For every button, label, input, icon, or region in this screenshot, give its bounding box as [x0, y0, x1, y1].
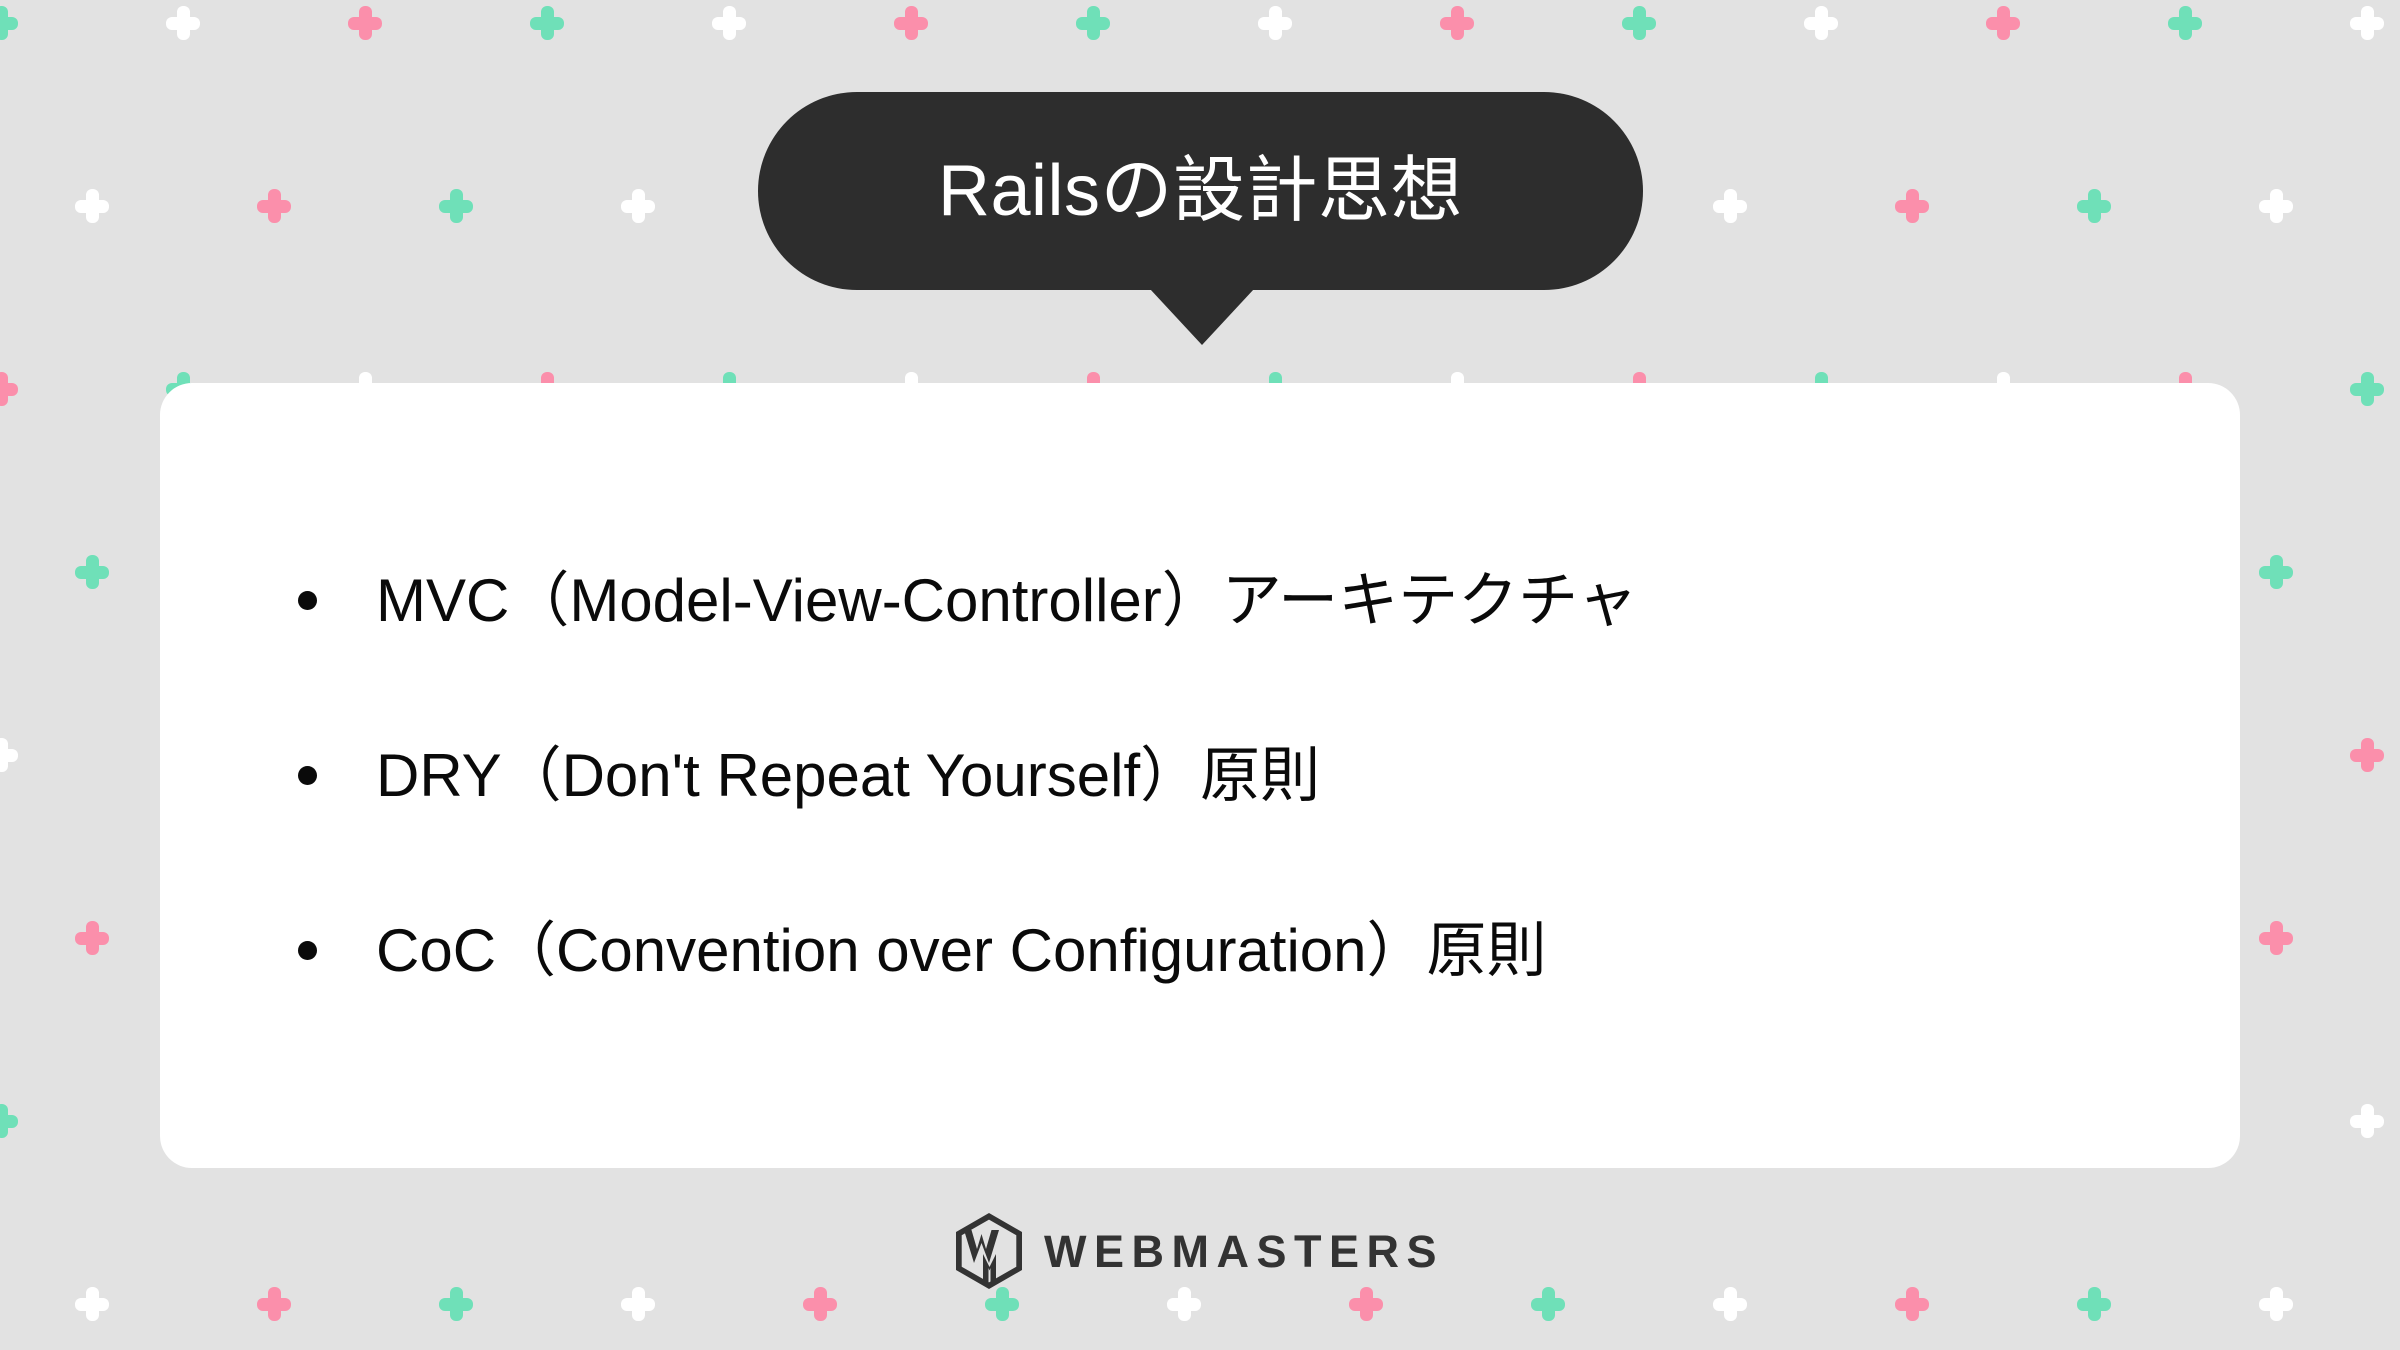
- plus-cross-icon: [1440, 6, 1474, 40]
- bullet-dot-icon: [298, 766, 317, 785]
- plus-cross-icon: [2259, 189, 2293, 223]
- plus-cross-icon: [257, 1287, 291, 1321]
- plus-cross-icon: [166, 6, 200, 40]
- plus-cross-icon: [2077, 1287, 2111, 1321]
- plus-cross-icon: [1076, 6, 1110, 40]
- plus-cross-icon: [75, 1287, 109, 1321]
- plus-cross-icon: [75, 555, 109, 589]
- bubble-tail-icon: [1150, 289, 1254, 345]
- plus-cross-icon: [621, 1287, 655, 1321]
- plus-cross-icon: [0, 1104, 18, 1138]
- list-item: MVC（Model-View-Controller）アーキテクチャ: [270, 513, 2130, 688]
- plus-cross-icon: [0, 372, 18, 406]
- bullet-list: MVC（Model-View-Controller）アーキテクチャ DRY（Do…: [270, 513, 2130, 1038]
- plus-cross-icon: [2350, 372, 2384, 406]
- plus-cross-icon: [894, 6, 928, 40]
- content-card: MVC（Model-View-Controller）アーキテクチャ DRY（Do…: [160, 383, 2240, 1168]
- list-item-label: DRY（Don't Repeat Yourself）原則: [376, 743, 1320, 809]
- brand-wordmark: WEBMASTERS: [1044, 1229, 1444, 1274]
- plus-cross-icon: [1531, 1287, 1565, 1321]
- list-item-label: MVC（Model-View-Controller）アーキテクチャ: [376, 568, 1638, 634]
- plus-cross-icon: [257, 189, 291, 223]
- title-bubble-body: Railsの設計思想: [758, 92, 1643, 290]
- footer-brand: WEBMASTERS: [0, 1213, 2400, 1289]
- plus-cross-icon: [621, 189, 655, 223]
- plus-cross-icon: [803, 1287, 837, 1321]
- plus-cross-icon: [439, 189, 473, 223]
- plus-cross-icon: [2350, 1104, 2384, 1138]
- page-title: Railsの設計思想: [938, 155, 1463, 227]
- plus-cross-icon: [985, 1287, 1019, 1321]
- list-item: DRY（Don't Repeat Yourself）原則: [270, 688, 2130, 863]
- plus-cross-icon: [712, 6, 746, 40]
- plus-cross-icon: [1167, 1287, 1201, 1321]
- plus-cross-icon: [1713, 189, 1747, 223]
- plus-cross-icon: [1349, 1287, 1383, 1321]
- plus-cross-icon: [2077, 189, 2111, 223]
- plus-cross-icon: [1986, 6, 2020, 40]
- plus-cross-icon: [1713, 1287, 1747, 1321]
- plus-cross-icon: [2168, 6, 2202, 40]
- wm-hexagon-logo-icon: [956, 1213, 1022, 1289]
- plus-cross-icon: [2350, 738, 2384, 772]
- plus-cross-icon: [0, 738, 18, 772]
- list-item-label: CoC（Convention over Configuration）原則: [376, 918, 1547, 984]
- plus-cross-icon: [75, 189, 109, 223]
- plus-cross-icon: [1258, 6, 1292, 40]
- plus-cross-icon: [2259, 921, 2293, 955]
- plus-cross-icon: [1804, 6, 1838, 40]
- bullet-dot-icon: [298, 941, 317, 960]
- plus-cross-icon: [530, 6, 564, 40]
- slide-root: Railsの設計思想 MVC（Model-View-Controller）アーキ…: [0, 0, 2400, 1350]
- plus-cross-icon: [439, 1287, 473, 1321]
- plus-cross-icon: [0, 6, 18, 40]
- plus-cross-icon: [2259, 555, 2293, 589]
- plus-cross-icon: [1622, 6, 1656, 40]
- plus-cross-icon: [1895, 1287, 1929, 1321]
- plus-cross-icon: [2350, 6, 2384, 40]
- list-item: CoC（Convention over Configuration）原則: [270, 863, 2130, 1038]
- plus-cross-icon: [1895, 189, 1929, 223]
- plus-cross-icon: [75, 921, 109, 955]
- plus-cross-icon: [348, 6, 382, 40]
- bullet-dot-icon: [298, 591, 317, 610]
- title-speech-bubble: Railsの設計思想: [758, 92, 1643, 290]
- plus-cross-icon: [2259, 1287, 2293, 1321]
